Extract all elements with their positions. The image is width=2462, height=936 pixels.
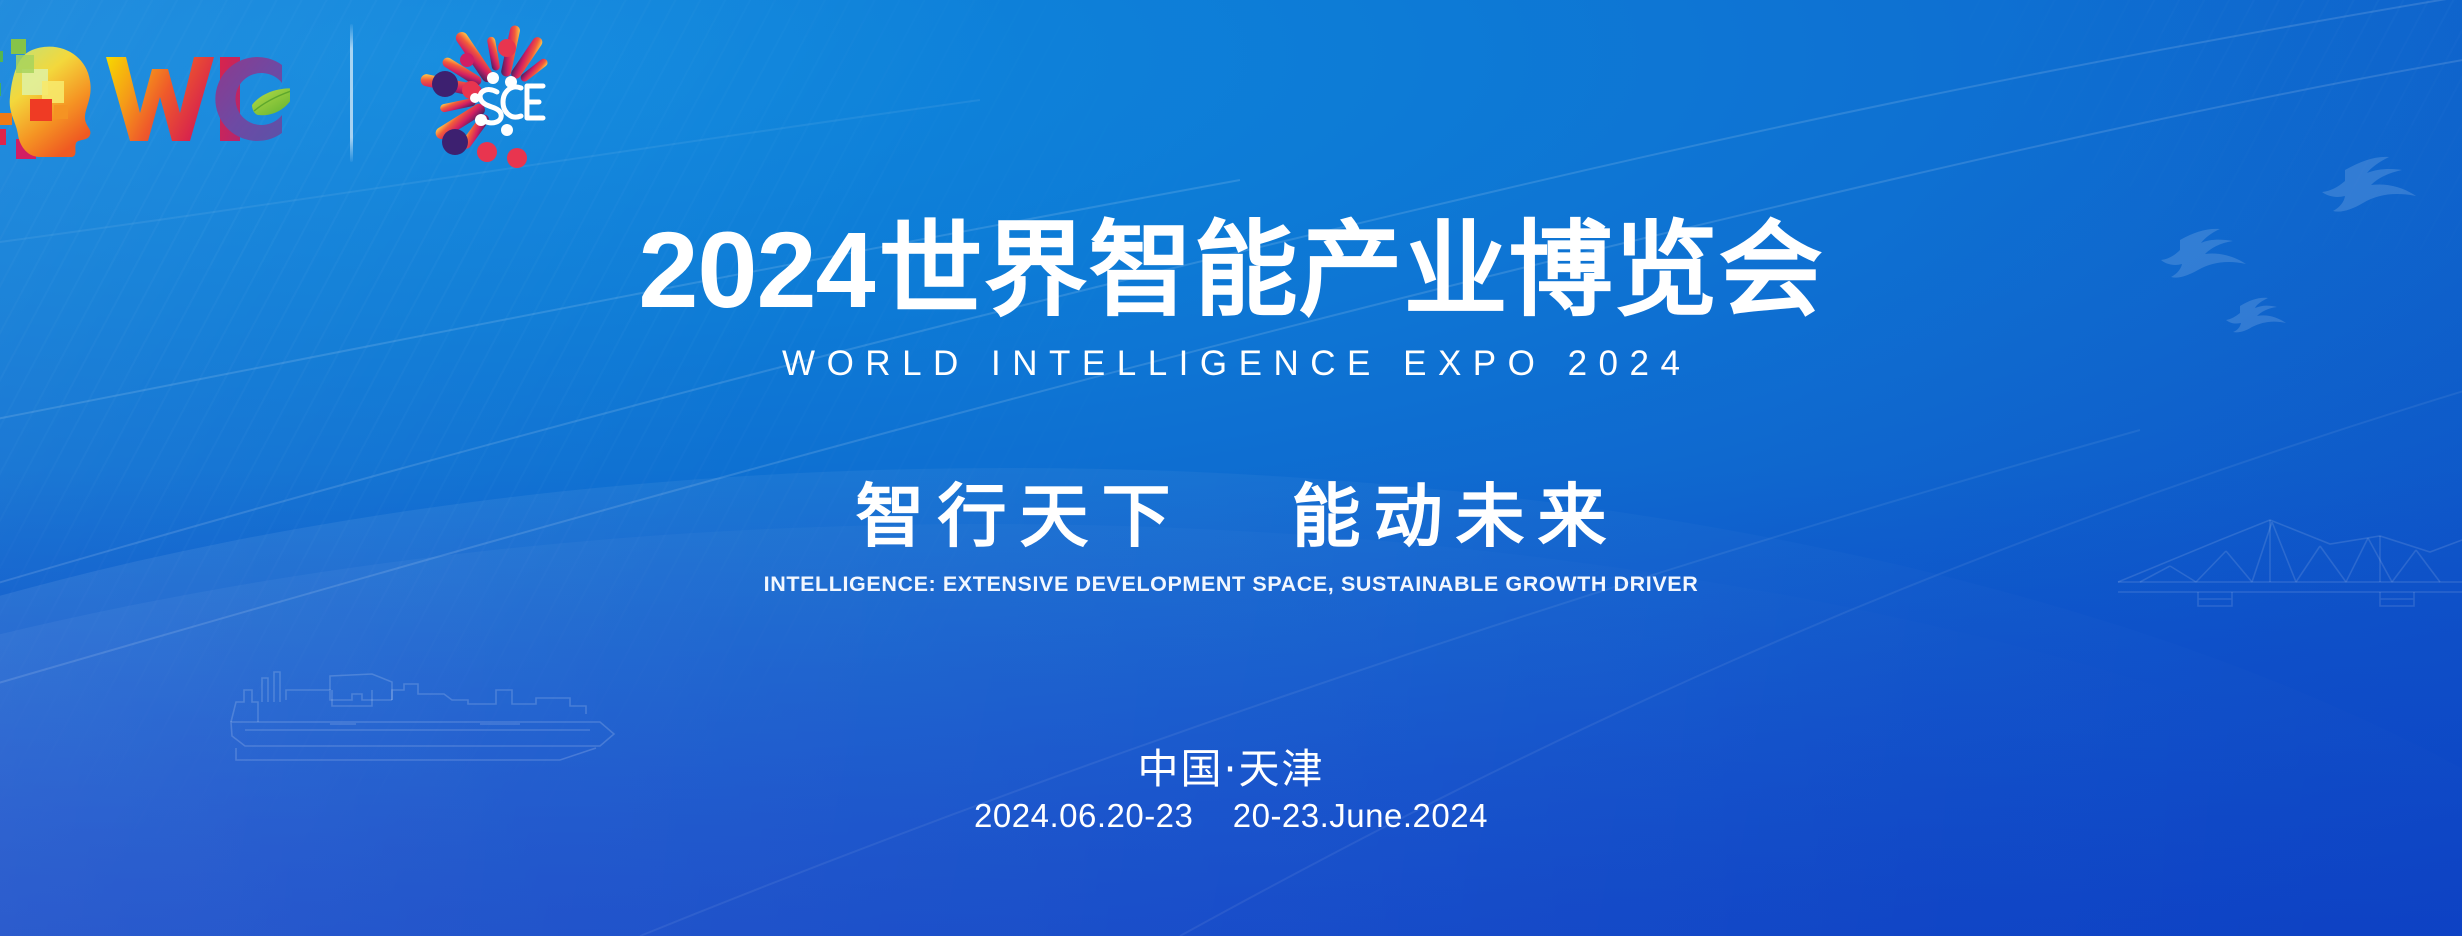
slogan-chinese: 智行天下 能动未来 [0,460,2462,560]
sce-logo[interactable] [415,18,563,168]
event-location: 中国·天津 [0,735,2462,795]
slogan-english: INTELLIGENCE: EXTENSIVE DEVELOPMENT SPAC… [0,572,2462,597]
title-year: 2024 [638,219,874,322]
wic-logo[interactable] [0,18,290,168]
expo-banner: 2024 世界智能产业博览会 WORLD INTELLIGENCE EXPO 2… [0,0,2462,936]
wic-head-mark-icon [0,25,114,161]
event-dates: 2024.06.20-23 20-23.June.2024 [0,797,2462,835]
logo-divider [350,24,353,162]
main-title: 2024 世界智能产业博览会 [0,218,2462,322]
slogan-chinese-left: 智行天下 [855,477,1183,557]
title-english: WORLD INTELLIGENCE EXPO 2024 [0,344,2462,384]
slogan-chinese-right: 能动未来 [1292,477,1620,557]
event-date-cn: 2024.06.20-23 [974,797,1193,834]
event-date-en: 20-23.June.2024 [1233,797,1488,834]
wic-wordmark-icon [104,41,290,145]
title-chinese: 世界智能产业博览会 [879,218,1824,322]
logo-row [0,18,563,168]
